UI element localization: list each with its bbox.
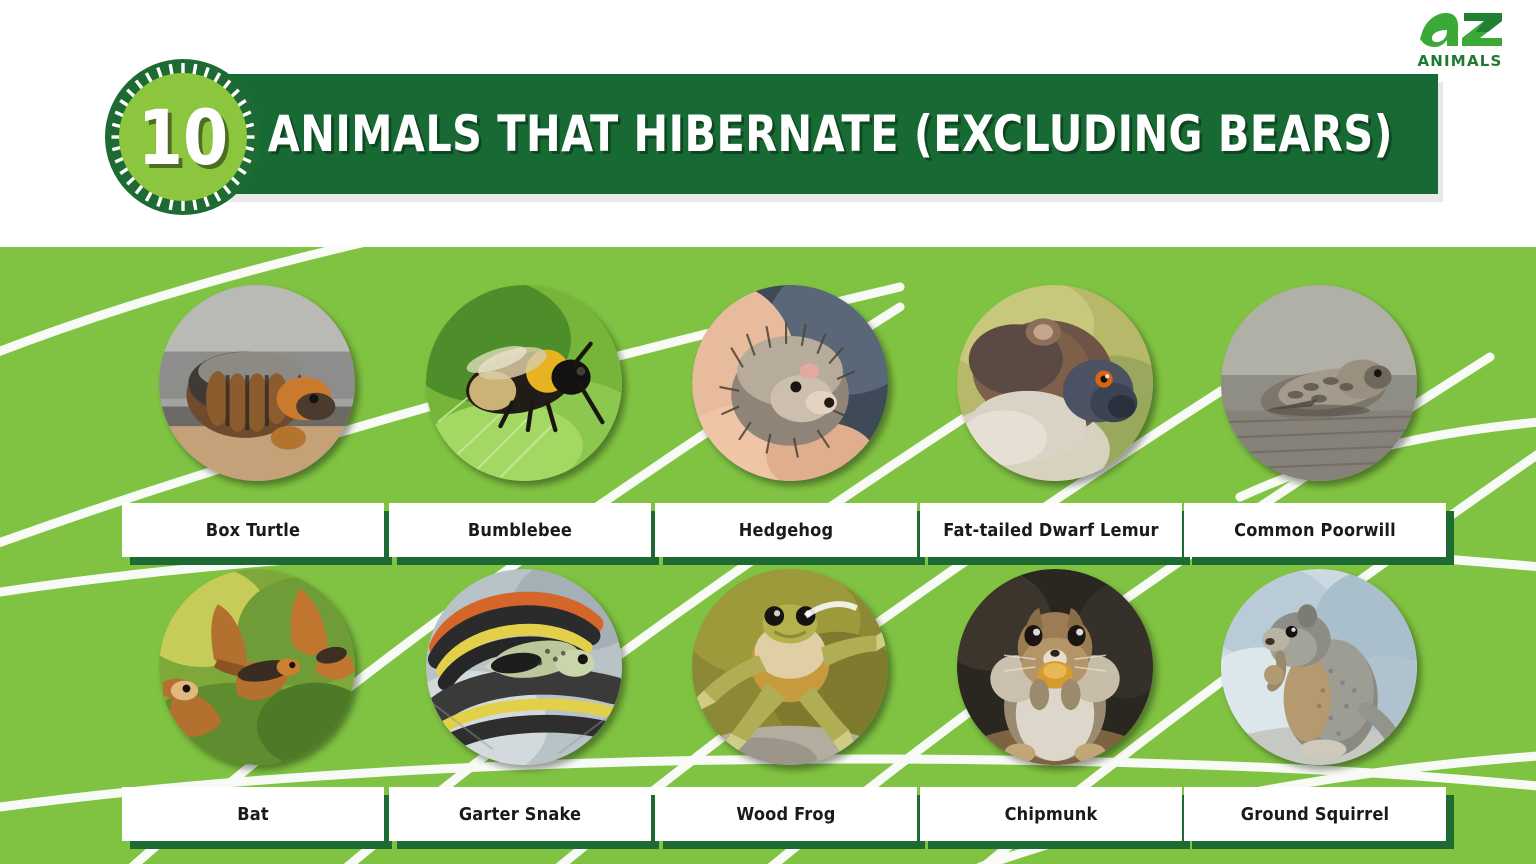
label-card[interactable]: Box Turtle [122, 503, 384, 557]
animal-photo-ground-squirrel [1221, 569, 1417, 765]
animal-label: Ground Squirrel [1241, 804, 1390, 825]
badge-number: 10 [107, 57, 259, 217]
animal-label-wrap-2: Bumblebee [389, 503, 659, 559]
animal-photo-common-poorwill [1221, 285, 1417, 481]
animal-label: Wood Frog [736, 804, 835, 825]
animal-label-wrap-10: Ground Squirrel [1184, 787, 1454, 843]
animal-label-wrap-8: Wood Frog [655, 787, 925, 843]
infographic-page: ANIMALS ANIMALS THAT HIBERNATE (EXCLUDIN… [0, 0, 1536, 864]
animal-label-wrap-4: Fat-tailed Dwarf Lemur [920, 503, 1190, 559]
animals-grid: Box Turtle [0, 247, 1536, 864]
animal-photo-garter-snake [426, 569, 622, 765]
animal-label: Fat-tailed Dwarf Lemur [943, 520, 1158, 541]
animal-label-wrap-7: Garter Snake [389, 787, 659, 843]
page-title: ANIMALS THAT HIBERNATE (EXCLUDING BEARS) [150, 74, 1335, 194]
label-card[interactable]: Ground Squirrel [1184, 787, 1446, 841]
animal-label-wrap-5: Common Poorwill [1184, 503, 1454, 559]
animal-photo-bat [159, 569, 355, 765]
animal-label-wrap-9: Chipmunk [920, 787, 1190, 843]
animal-label: Garter Snake [459, 804, 581, 825]
animal-photo-box-turtle [159, 285, 355, 481]
label-card[interactable]: Fat-tailed Dwarf Lemur [920, 503, 1182, 557]
label-card[interactable]: Garter Snake [389, 787, 651, 841]
animal-label-wrap-3: Hedgehog [655, 503, 925, 559]
header: ANIMALS THAT HIBERNATE (EXCLUDING BEARS) [0, 0, 1536, 244]
animal-label: Chipmunk [1005, 804, 1098, 825]
animal-photo-fat-tailed-dwarf-lemur [957, 285, 1153, 481]
animal-photo-chipmunk [957, 569, 1153, 765]
animals-panel: Box Turtle [0, 247, 1536, 864]
label-card[interactable]: Bumblebee [389, 503, 651, 557]
label-card[interactable]: Hedgehog [655, 503, 917, 557]
animal-label: Bat [237, 804, 269, 825]
animal-label-wrap-6: Bat [122, 787, 392, 843]
label-card[interactable]: Wood Frog [655, 787, 917, 841]
animal-photo-hedgehog [692, 285, 888, 481]
animal-label: Common Poorwill [1234, 520, 1396, 541]
label-card[interactable]: Chipmunk [920, 787, 1182, 841]
animal-label: Hedgehog [739, 520, 834, 541]
animal-photo-wood-frog [692, 569, 888, 765]
animal-label: Box Turtle [206, 520, 300, 541]
label-card[interactable]: Common Poorwill [1184, 503, 1446, 557]
header-bar: ANIMALS THAT HIBERNATE (EXCLUDING BEARS) [150, 74, 1438, 194]
animal-label-wrap-1: Box Turtle [122, 503, 392, 559]
count-badge: 10 [103, 57, 263, 217]
label-card[interactable]: Bat [122, 787, 384, 841]
animal-photo-bumblebee [426, 285, 622, 481]
animal-label: Bumblebee [468, 520, 572, 541]
